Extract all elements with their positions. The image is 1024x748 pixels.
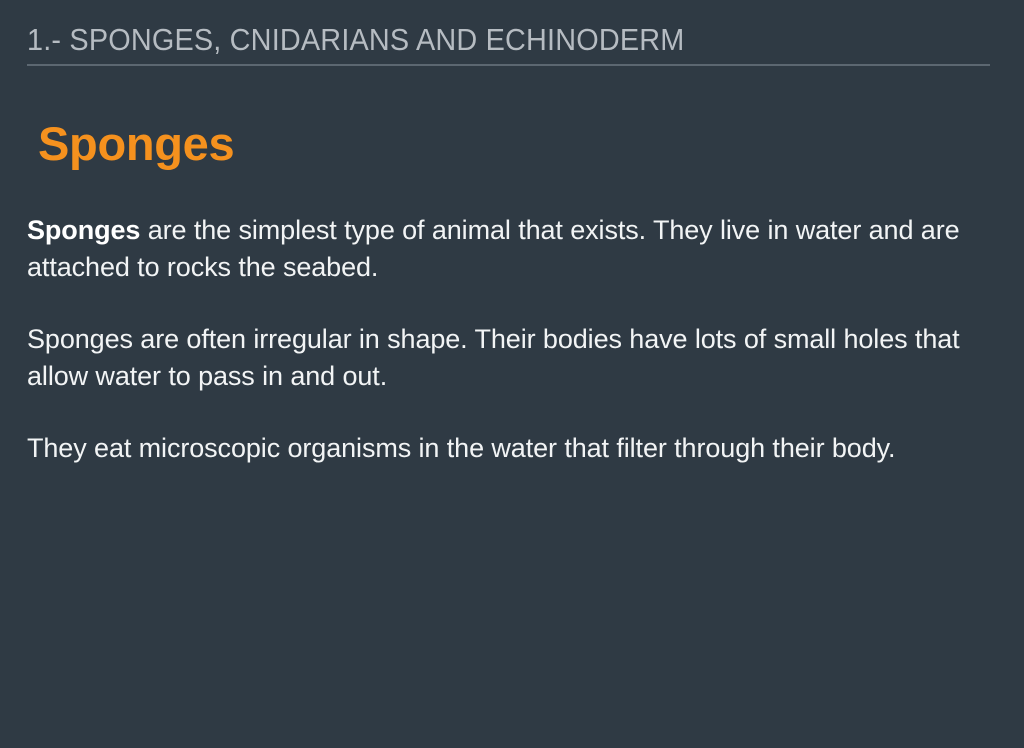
paragraph-feeding: They eat microscopic organisms in the wa…	[27, 430, 995, 467]
slide-header-title: 1.- SPONGES, CNIDARIANS AND ECHINODERM	[27, 22, 923, 58]
paragraph-body-shape-text: Sponges are often irregular in shape. Th…	[27, 324, 960, 391]
paragraph-definition-text: are the simplest type of animal that exi…	[27, 215, 960, 282]
paragraph-body-shape: Sponges are often irregular in shape. Th…	[27, 321, 995, 395]
slide-canvas: 1.- SPONGES, CNIDARIANS AND ECHINODERM S…	[0, 0, 1024, 748]
paragraph-feeding-text: They eat microscopic organisms in the wa…	[27, 433, 895, 463]
paragraph-lead-term: Sponges	[27, 215, 140, 245]
slide-header: 1.- SPONGES, CNIDARIANS AND ECHINODERM	[27, 22, 990, 58]
slide-body-content: Sponges are the simplest type of animal …	[27, 212, 995, 467]
header-divider-rule	[27, 64, 990, 66]
paragraph-definition: Sponges are the simplest type of animal …	[27, 212, 995, 286]
section-heading-sponges: Sponges	[38, 116, 234, 172]
